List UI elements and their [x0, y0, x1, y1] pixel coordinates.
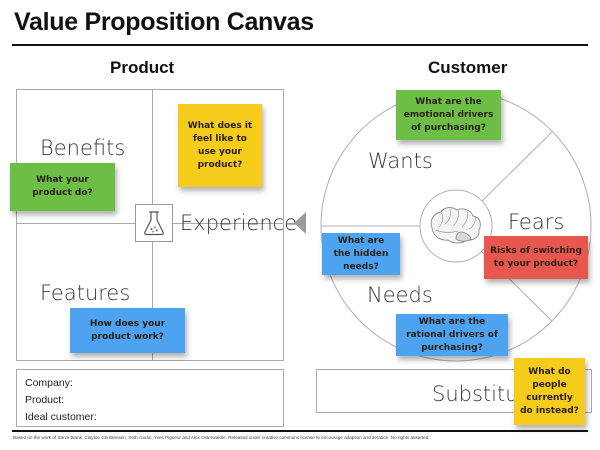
- field-ideal-customer[interactable]: Ideal customer:: [25, 409, 275, 426]
- sticky-note-substitutes[interactable]: What do people currently do instead?: [514, 358, 585, 425]
- sticky-note-rational-drivers[interactable]: What are the rational drivers of purchas…: [396, 314, 508, 356]
- left-arrow-icon: [294, 212, 306, 234]
- label-fears: Fears: [508, 210, 564, 234]
- footer-divider: [12, 430, 588, 432]
- company-info-box: Company: Product: Ideal customer:: [16, 369, 284, 427]
- sticky-note-fears[interactable]: Risks of switching to your product?: [484, 236, 588, 279]
- sticky-note-hidden-needs[interactable]: What are the hidden needs?: [322, 233, 400, 275]
- sticky-note-wants[interactable]: What are the emotional drivers of purcha…: [396, 90, 501, 140]
- sticky-note-features[interactable]: How does your product work?: [70, 308, 185, 353]
- field-company[interactable]: Company:: [25, 375, 275, 392]
- label-features: Features: [40, 281, 130, 305]
- label-wants: Wants: [368, 149, 433, 173]
- heading-customer: Customer: [428, 58, 507, 78]
- value-proposition-canvas: Value Proposition Canvas Product Custome…: [0, 0, 600, 450]
- page-title: Value Proposition Canvas: [14, 8, 314, 37]
- sticky-note-benefits[interactable]: What your product do?: [10, 163, 115, 211]
- footer-attribution: Based on the work of Steve Blank, Clayto…: [13, 434, 587, 441]
- label-experience: Experience: [180, 211, 297, 235]
- flask-icon: [135, 204, 173, 242]
- title-divider: [12, 44, 588, 46]
- label-needs: Needs: [367, 283, 433, 307]
- label-benefits: Benefits: [40, 136, 125, 160]
- sticky-note-experience[interactable]: What does it feel like to use your produ…: [178, 104, 262, 187]
- field-product[interactable]: Product:: [25, 392, 275, 409]
- heading-product: Product: [110, 58, 174, 78]
